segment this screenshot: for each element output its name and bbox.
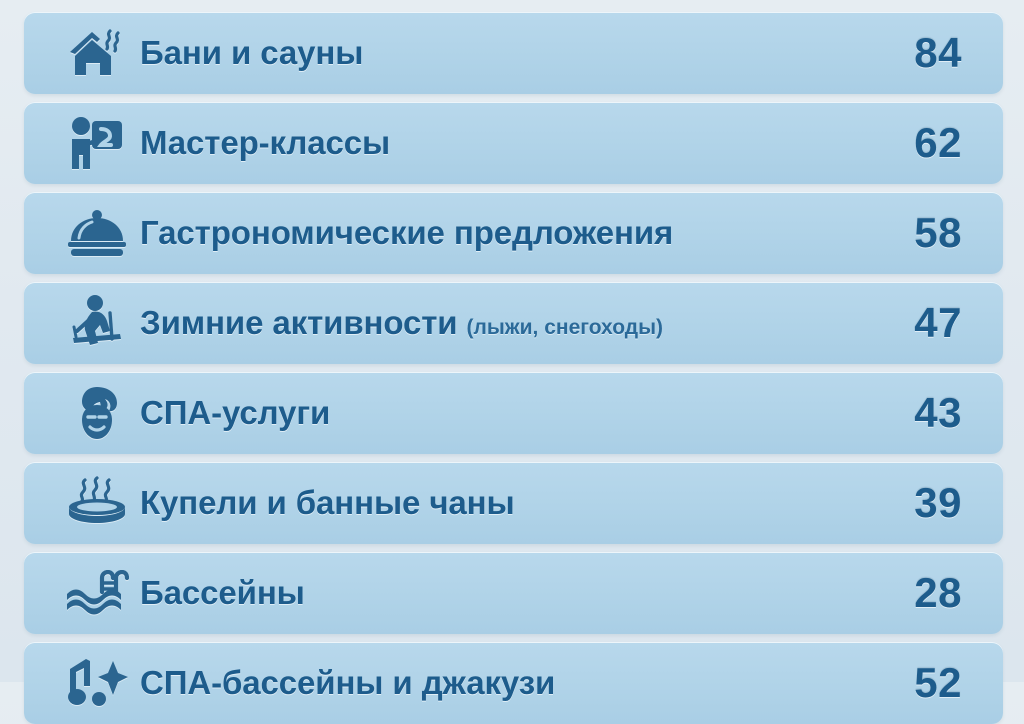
sauna-house-icon: [54, 21, 140, 85]
list-item-value: 52: [914, 659, 962, 706]
hot-tub-steam-icon: [54, 471, 140, 535]
list-item[interactable]: Купели и банные чаны 39: [24, 462, 1003, 544]
list-item-label: СПА-бассейны и джакузи: [140, 664, 555, 702]
list-item-value-cell: 39: [842, 479, 962, 527]
spa-face-mask-icon: [54, 381, 140, 445]
list-item[interactable]: Мастер-классы 62: [24, 102, 1003, 184]
list-item-label: Бассейны: [140, 574, 305, 612]
list-item-label-group: Купели и банные чаны: [140, 484, 842, 522]
list-item-label-group: СПА-бассейны и джакузи: [140, 664, 842, 702]
list-item-label-group: Зимние активности (лыжи, снегоходы): [140, 304, 842, 342]
list-item-label: Купели и банные чаны: [140, 484, 515, 522]
list-item-value: 62: [914, 119, 962, 166]
list-item-value-cell: 84: [842, 29, 962, 77]
list-item-sublabel: (лыжи, снегоходы): [466, 316, 663, 340]
swimming-pool-ladder-icon: [54, 561, 140, 625]
list-item-value: 84: [914, 29, 962, 76]
list-item-value-cell: 58: [842, 209, 962, 257]
list-item-label: Мастер-классы: [140, 124, 390, 162]
masterclass-presenter-icon: [54, 111, 140, 175]
list-item[interactable]: Гастрономические предложения 58: [24, 192, 1003, 274]
food-cloche-icon: [54, 201, 140, 265]
list-item-label-group: Мастер-классы: [140, 124, 842, 162]
list-item-label-group: СПА-услуги: [140, 394, 842, 432]
list-item-value-cell: 62: [842, 119, 962, 167]
list-item-value-cell: 52: [842, 659, 962, 707]
list-item-value-cell: 28: [842, 569, 962, 617]
list-item-value: 47: [914, 299, 962, 346]
list-item-label: Бани и сауны: [140, 34, 363, 72]
list-item[interactable]: Бассейны 28: [24, 552, 1003, 634]
music-note-star-icon: [54, 651, 140, 715]
list-item-value-cell: 47: [842, 299, 962, 347]
list-item-label: Зимние активности: [140, 304, 457, 342]
list-item-label-group: Бани и сауны: [140, 34, 842, 72]
ranked-category-list: Бани и сауны 84 Мастер-классы 62: [0, 0, 1024, 682]
list-item-value: 39: [914, 479, 962, 526]
list-item-value: 28: [914, 569, 962, 616]
list-item-label-group: Гастрономические предложения: [140, 214, 842, 252]
list-item[interactable]: СПА-услуги 43: [24, 372, 1003, 454]
list-item-value: 58: [914, 209, 962, 256]
list-item-value-cell: 43: [842, 389, 962, 437]
list-item-label-group: Бассейны: [140, 574, 842, 612]
list-item-label: СПА-услуги: [140, 394, 330, 432]
list-item[interactable]: Зимние активности (лыжи, снегоходы) 47: [24, 282, 1003, 364]
list-item[interactable]: СПА-бассейны и джакузи 52: [24, 642, 1003, 724]
list-item[interactable]: Бани и сауны 84: [24, 12, 1003, 94]
skier-icon: [54, 291, 140, 355]
list-item-label: Гастрономические предложения: [140, 214, 673, 252]
list-item-value: 43: [914, 389, 962, 436]
